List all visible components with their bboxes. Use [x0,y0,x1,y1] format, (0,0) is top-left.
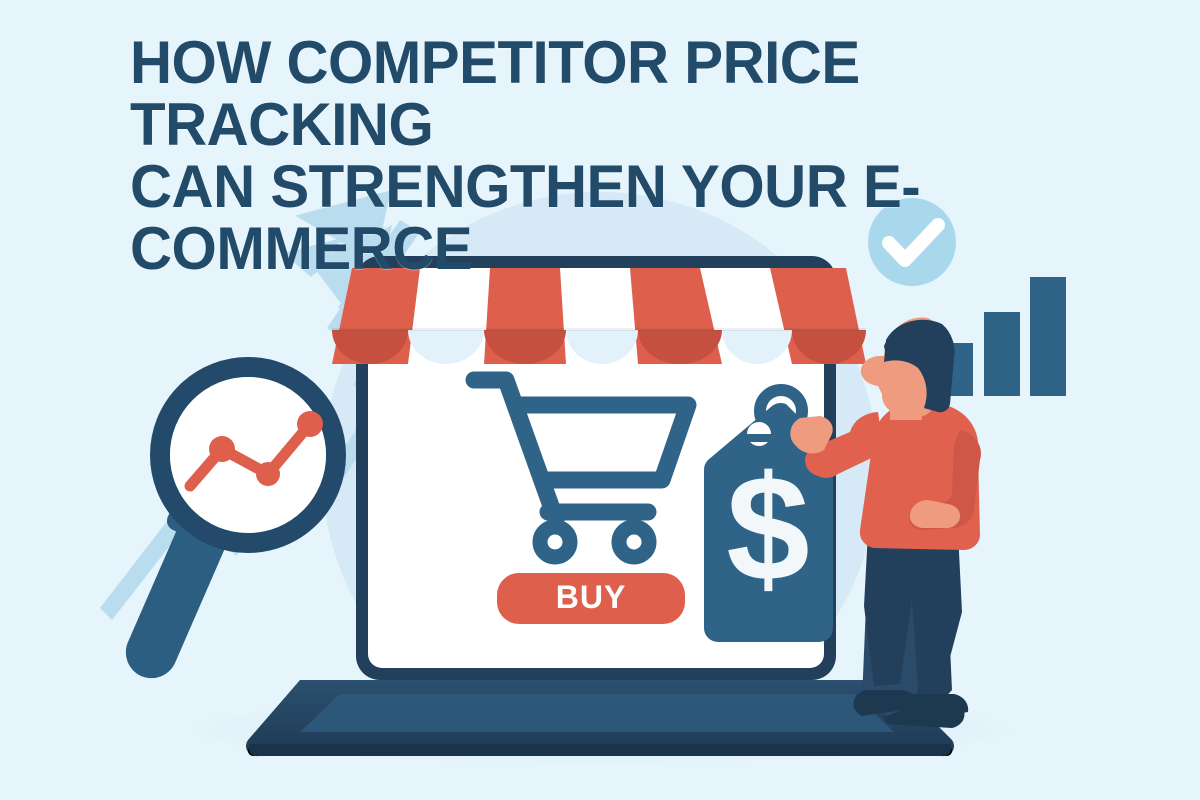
price-tag-dollar-symbol: $ [726,444,809,612]
bar-3 [1030,277,1066,396]
illustration-canvas: BUY $ [0,0,1200,800]
laptop-base-bottom-edge [249,744,951,756]
magnifier-lens [170,377,326,533]
hero-illustration: BUY $ [0,0,1200,800]
shop-awning [332,268,866,364]
buy-button[interactable]: BUY [497,573,685,624]
bar-2 [984,312,1020,396]
buy-button-label: BUY [556,579,627,615]
check-circle-icon [868,198,956,286]
awning-shade-line [332,328,866,331]
